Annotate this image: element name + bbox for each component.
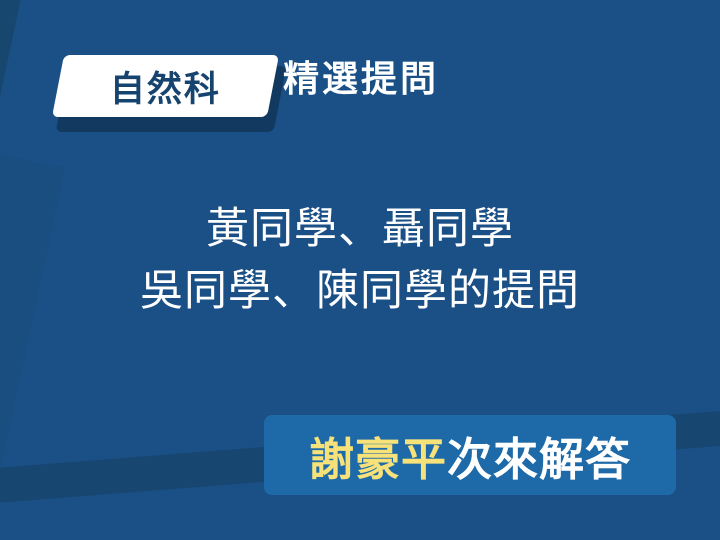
answer-action-text: 次來解答 xyxy=(447,423,631,488)
subject-tag-text: 自然科 xyxy=(110,61,221,112)
answer-pill: 謝豪平 次來解答 xyxy=(264,415,676,495)
header-title-text: 精選提問 xyxy=(283,50,439,102)
subject-tag-label: 自然科 xyxy=(52,55,279,117)
question-line-2: 吳同學、陳同學的提問 xyxy=(0,260,720,322)
slide-canvas: 自然科 精選提問 黃同學、聶同學 吳同學、陳同學的提問 謝豪平 次來解答 xyxy=(0,0,720,540)
header-title: 精選提問 xyxy=(278,50,444,102)
answerer-name: 謝豪平 xyxy=(309,423,447,488)
question-block: 黃同學、聶同學 吳同學、陳同學的提問 xyxy=(0,198,720,322)
question-line-1: 黃同學、聶同學 xyxy=(0,198,720,260)
